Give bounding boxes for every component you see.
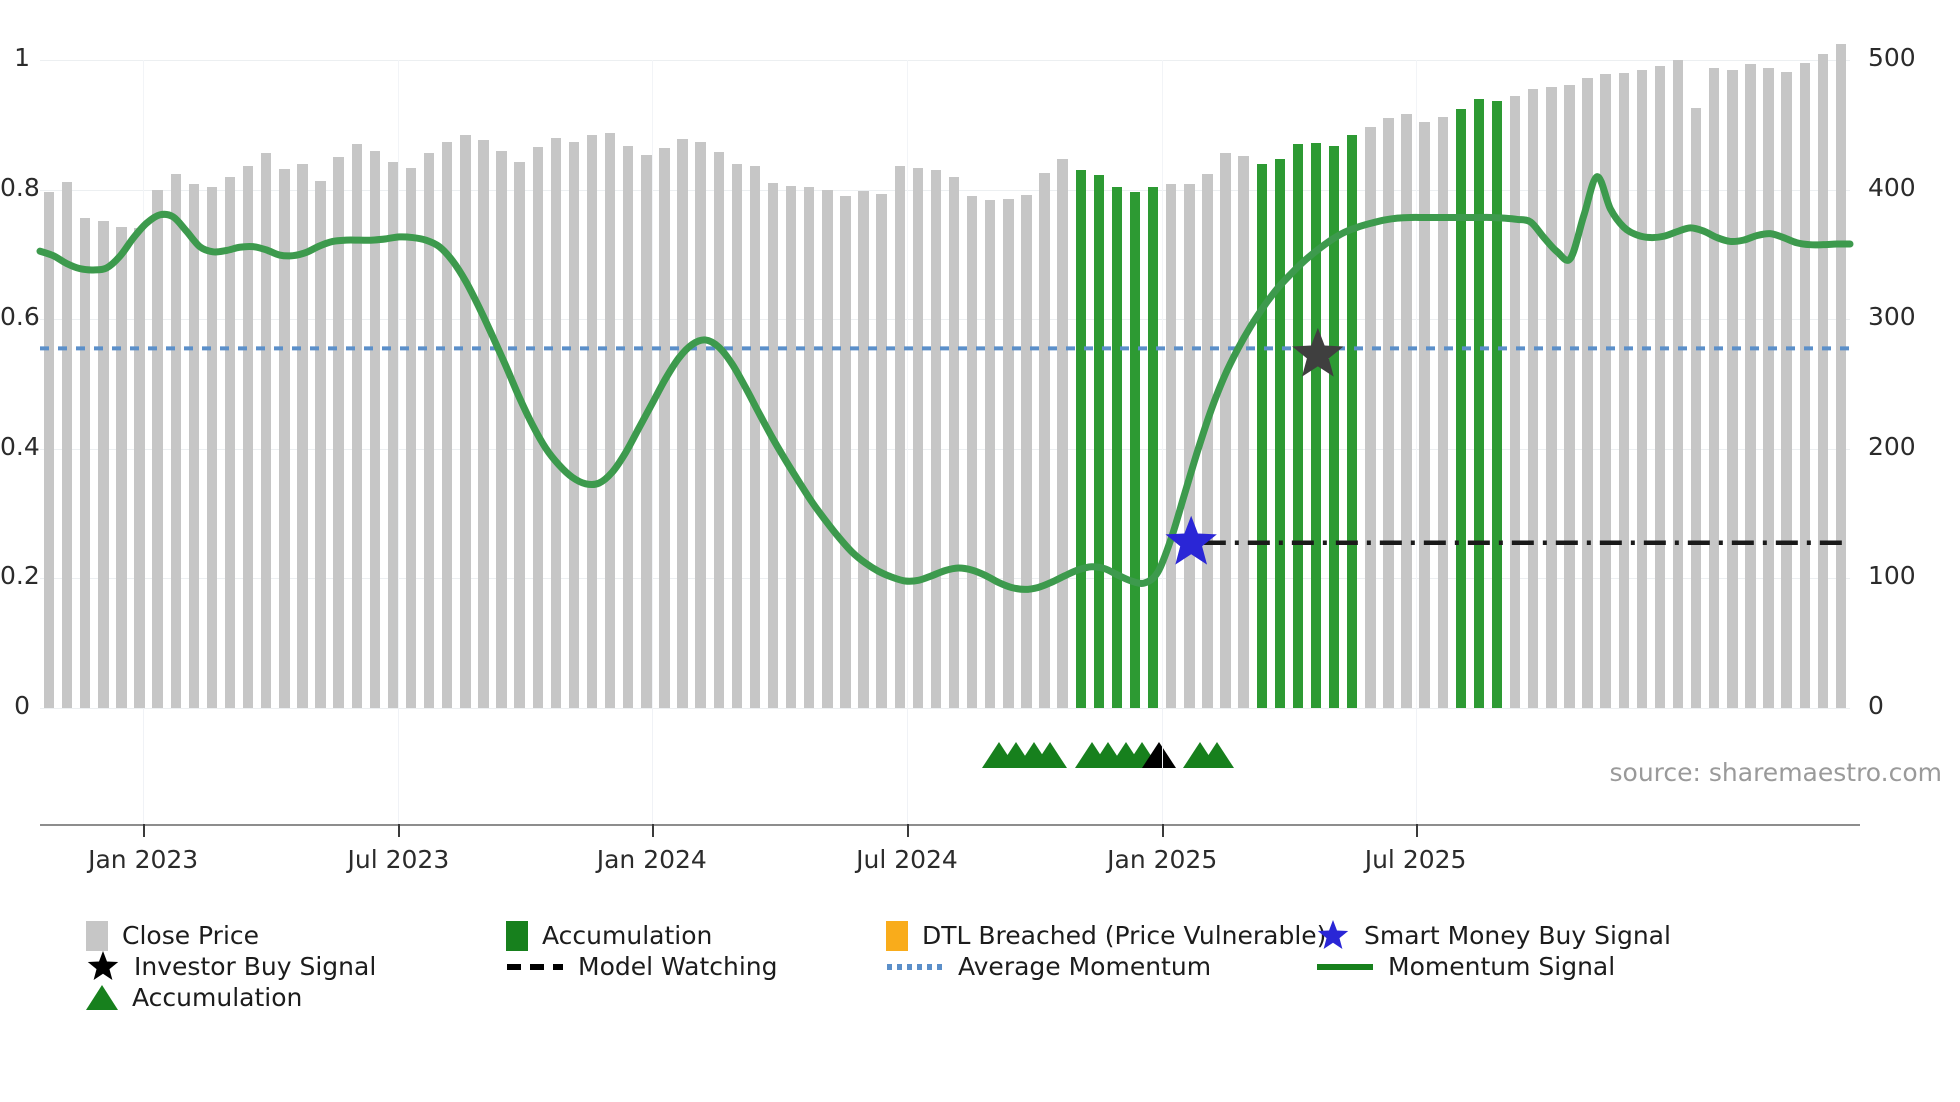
close-price-bar xyxy=(858,191,868,708)
close-price-bar xyxy=(243,166,253,708)
accumulation-bar xyxy=(1347,135,1357,708)
legend-item[interactable]: Momentum Signal xyxy=(1316,952,1736,982)
x-axis-tick xyxy=(143,824,145,837)
close-price-bar xyxy=(949,177,959,708)
close-price-bar xyxy=(514,162,524,708)
close-price-bar xyxy=(333,157,343,708)
close-price-bar xyxy=(732,164,742,708)
close-price-bar xyxy=(822,190,832,708)
close-price-bar xyxy=(1655,66,1665,708)
close-price-bar xyxy=(1057,159,1067,709)
legend-swatch-star-icon xyxy=(1316,920,1350,952)
close-price-bar xyxy=(1691,108,1701,708)
legend-swatch-square xyxy=(86,921,108,951)
legend-item-label: Close Price xyxy=(122,921,259,950)
close-price-bar xyxy=(1166,184,1176,708)
legend-item[interactable]: Smart Money Buy Signal xyxy=(1316,920,1736,952)
close-price-bar xyxy=(478,140,488,708)
chart-plot-area xyxy=(40,60,1850,708)
close-price-bar xyxy=(1673,60,1683,708)
close-price-bar xyxy=(1220,153,1230,708)
y-axis-left-tick-label: 0.2 xyxy=(0,561,30,590)
close-price-bar xyxy=(1528,89,1538,708)
close-price-bar xyxy=(1619,73,1629,708)
close-price-bar xyxy=(279,169,289,708)
close-price-bar xyxy=(1600,74,1610,708)
x-axis-tick xyxy=(1162,824,1164,837)
legend-swatch-star-icon xyxy=(86,951,120,983)
close-price-bar xyxy=(352,144,362,708)
close-price-bar xyxy=(1546,87,1556,708)
close-price-bar xyxy=(659,148,669,708)
accumulation-bar xyxy=(1293,144,1303,708)
legend-swatch-line xyxy=(506,952,564,982)
close-price-bar xyxy=(1365,127,1375,708)
close-price-bar xyxy=(985,200,995,708)
gridline-vertical xyxy=(907,60,908,708)
accumulation-bar xyxy=(1311,143,1321,708)
y-axis-right-tick-label: 200 xyxy=(1868,432,1916,461)
close-price-bar xyxy=(315,181,325,708)
close-price-bar xyxy=(750,166,760,708)
close-price-bar xyxy=(533,147,543,708)
close-price-bar xyxy=(496,151,506,708)
close-price-bar xyxy=(1763,68,1773,708)
close-price-bar xyxy=(80,218,90,708)
gridline-horizontal xyxy=(40,578,1850,579)
close-price-bar xyxy=(895,166,905,708)
legend-item-label: Smart Money Buy Signal xyxy=(1364,921,1671,950)
accumulation-bar xyxy=(1112,187,1122,708)
close-price-bar xyxy=(840,196,850,708)
close-price-bar xyxy=(1836,44,1846,708)
close-price-bar xyxy=(1800,63,1810,708)
close-price-bar xyxy=(714,152,724,708)
accumulation-triangle-icon xyxy=(1200,742,1234,768)
gridline-vertical xyxy=(1162,60,1163,708)
close-price-bar xyxy=(1818,54,1828,708)
legend-item[interactable]: Investor Buy Signal xyxy=(86,951,506,983)
legend-item-label: DTL Breached (Price Vulnerable) xyxy=(922,921,1326,950)
accumulation-bar xyxy=(1130,192,1140,708)
close-price-bar xyxy=(1383,118,1393,708)
x-axis-line xyxy=(40,824,1860,826)
y-axis-right-tick-label: 400 xyxy=(1868,173,1916,202)
close-price-bar xyxy=(623,146,633,708)
close-price-bar xyxy=(261,153,271,708)
gridline-vertical-lower xyxy=(1162,708,1163,824)
close-price-bar xyxy=(424,153,434,708)
close-price-bar xyxy=(62,182,72,708)
y-axis-left-tick-label: 0 xyxy=(0,691,30,720)
legend-swatch-square xyxy=(506,921,528,951)
close-price-bar xyxy=(1745,64,1755,708)
legend-item[interactable]: DTL Breached (Price Vulnerable) xyxy=(886,921,1316,951)
gridline-vertical xyxy=(1416,60,1417,708)
x-axis-tick xyxy=(907,824,909,837)
legend-item-label: Investor Buy Signal xyxy=(134,952,376,981)
legend-item-label: Accumulation xyxy=(542,921,712,950)
close-price-bar xyxy=(116,227,126,708)
close-price-bar xyxy=(44,192,54,708)
close-price-bar xyxy=(569,142,579,708)
y-axis-left-tick-label: 0.8 xyxy=(0,173,30,202)
y-axis-left-tick-label: 1 xyxy=(0,43,30,72)
legend-item[interactable]: Average Momentum xyxy=(886,952,1316,982)
close-price-bar xyxy=(1438,117,1448,708)
x-axis-tick-label: Jan 2025 xyxy=(1052,845,1272,874)
accumulation-triangle-icon xyxy=(1033,742,1067,768)
close-price-bar xyxy=(460,135,470,708)
close-price-bar xyxy=(225,177,235,708)
x-axis-tick-label: Jan 2024 xyxy=(542,845,762,874)
close-price-bar xyxy=(1637,70,1647,708)
gridline-vertical xyxy=(398,60,399,708)
source-attribution: source: sharemaestro.com xyxy=(1610,758,1943,787)
legend-swatch-line xyxy=(886,952,944,982)
gridline-vertical-lower xyxy=(1416,708,1417,824)
close-price-bar xyxy=(207,187,217,708)
close-price-bar xyxy=(967,196,977,708)
plot-inner xyxy=(40,60,1850,708)
close-price-bar xyxy=(641,155,651,708)
gridline-horizontal xyxy=(40,190,1850,191)
gridline-horizontal xyxy=(40,319,1850,320)
legend-swatch-line xyxy=(1316,952,1374,982)
close-price-bar xyxy=(442,142,452,708)
close-price-bar xyxy=(152,190,162,708)
close-price-bar xyxy=(804,187,814,708)
accumulation-bar xyxy=(1492,101,1502,708)
close-price-bar xyxy=(134,228,144,708)
gridline-vertical-lower xyxy=(143,708,144,824)
close-price-bar xyxy=(1039,173,1049,708)
y-axis-right-tick-label: 500 xyxy=(1868,43,1916,72)
close-price-bar xyxy=(189,184,199,708)
y-axis-right-tick-label: 300 xyxy=(1868,302,1916,331)
legend-item[interactable]: Accumulation xyxy=(506,921,886,951)
close-price-bar xyxy=(1510,96,1520,708)
legend-item-label: Accumulation xyxy=(132,983,302,1012)
x-axis-tick-label: Jan 2023 xyxy=(33,845,253,874)
x-axis-tick xyxy=(398,824,400,837)
close-price-bar xyxy=(876,194,886,709)
close-price-bar xyxy=(605,133,615,708)
legend-swatch-square xyxy=(886,921,908,951)
close-price-bar xyxy=(1781,72,1791,708)
legend-swatch-triangle-icon xyxy=(86,985,118,1010)
close-price-bar xyxy=(1401,114,1411,708)
accumulation-bar xyxy=(1329,146,1339,708)
accumulation-bar xyxy=(1474,99,1484,708)
gridline-horizontal xyxy=(40,60,1850,61)
y-axis-left-tick-label: 0.4 xyxy=(0,432,30,461)
close-price-bar xyxy=(551,138,561,708)
gridline-vertical-lower xyxy=(907,708,908,824)
close-price-bar xyxy=(98,221,108,708)
y-axis-left-tick-label: 0.6 xyxy=(0,302,30,331)
gridline-horizontal xyxy=(40,449,1850,450)
gridline-horizontal xyxy=(40,708,1850,709)
x-axis-tick-label: Jul 2025 xyxy=(1306,845,1526,874)
gridline-vertical-lower xyxy=(652,708,653,824)
y-axis-right-tick-label: 0 xyxy=(1868,691,1884,720)
close-price-bar xyxy=(388,162,398,708)
accumulation-bar xyxy=(1257,164,1267,708)
legend-item[interactable]: Model Watching xyxy=(506,952,886,982)
close-price-bar xyxy=(913,168,923,708)
accumulation-bar xyxy=(1456,109,1466,708)
gridline-vertical-lower xyxy=(398,708,399,824)
close-price-bar xyxy=(171,174,181,708)
legend-item-label: Momentum Signal xyxy=(1388,952,1615,981)
close-price-bar xyxy=(1021,195,1031,708)
close-price-bar xyxy=(695,142,705,708)
y-axis-right-tick-label: 100 xyxy=(1868,561,1916,590)
accumulation-bar xyxy=(1148,187,1158,708)
close-price-bar xyxy=(1727,70,1737,708)
legend-item[interactable]: Close Price xyxy=(86,921,506,951)
x-axis-tick-label: Jul 2023 xyxy=(288,845,508,874)
close-price-bar xyxy=(1564,85,1574,708)
close-price-bar xyxy=(677,139,687,708)
gridline-vertical xyxy=(652,60,653,708)
close-price-bar xyxy=(1003,199,1013,708)
close-price-bar xyxy=(1709,68,1719,708)
accumulation-bar xyxy=(1094,175,1104,708)
close-price-bar xyxy=(587,135,597,708)
accumulation-bar xyxy=(1076,170,1086,708)
legend-item-label: Average Momentum xyxy=(958,952,1211,981)
close-price-bar xyxy=(1184,184,1194,708)
x-axis-tick xyxy=(1416,824,1418,837)
close-price-bar xyxy=(931,170,941,708)
accumulation-triangle-icon xyxy=(1142,742,1176,768)
close-price-bar xyxy=(1419,122,1429,708)
close-price-bar xyxy=(1238,156,1248,708)
x-axis-tick-label: Jul 2024 xyxy=(797,845,1017,874)
close-price-bar xyxy=(297,164,307,708)
legend-item[interactable]: Accumulation xyxy=(86,983,506,1012)
chart-legend: Close PriceAccumulationDTL Breached (Pri… xyxy=(86,920,1886,1013)
legend-item-label: Model Watching xyxy=(578,952,778,981)
accumulation-bar xyxy=(1275,159,1285,709)
x-axis-tick xyxy=(652,824,654,837)
close-price-bar xyxy=(1202,174,1212,708)
close-price-bar xyxy=(1582,78,1592,708)
close-price-bar xyxy=(768,183,778,708)
close-price-bar xyxy=(406,168,416,708)
close-price-bar xyxy=(786,186,796,708)
close-price-bar xyxy=(370,151,380,708)
